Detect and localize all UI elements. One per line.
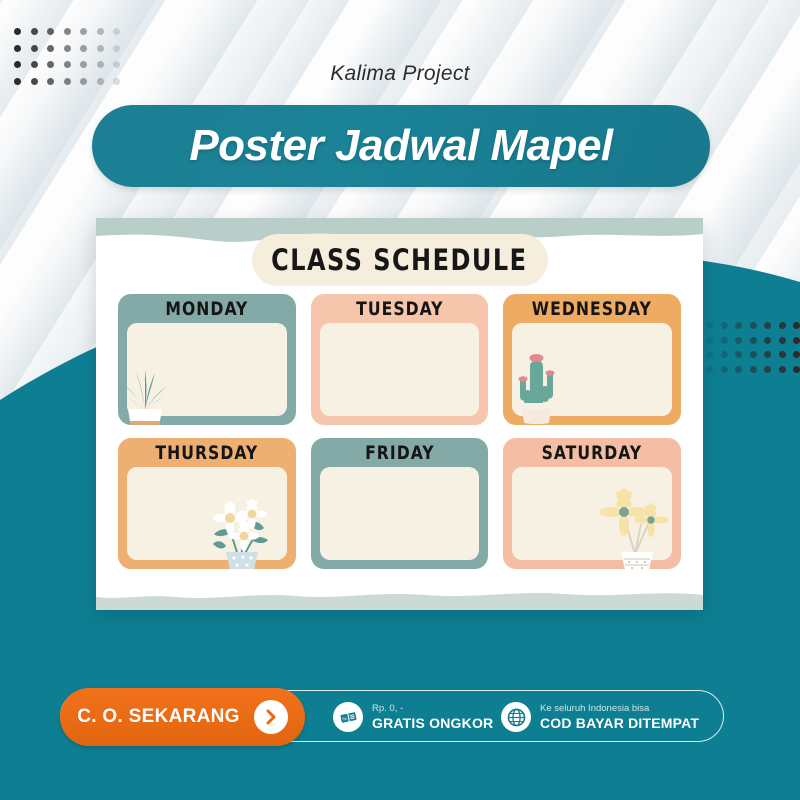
schedule-poster-card: CLASS SCHEDULE MONDAY TUESDAYWEDNESDAY <box>96 218 703 610</box>
day-card-label: MONDAY <box>127 298 286 323</box>
badge-free-shipping-text: Rp. 0, - GRATIS ONGKOR <box>372 703 493 731</box>
coupon-icon: % <box>333 702 363 732</box>
class-schedule-heading-pill: CLASS SCHEDULE <box>252 234 548 286</box>
day-card-grid: MONDAY TUESDAYWEDNESDAY <box>118 294 681 569</box>
day-card-note-area[interactable] <box>320 467 480 560</box>
day-card-wednesday[interactable]: WEDNESDAY <box>503 294 681 425</box>
badge-cod-bottom: COD BAYAR DITEMPAT <box>540 715 699 731</box>
cta-bar: C. O. SEKARANG % <box>60 690 724 742</box>
cactus-plant-illustration <box>507 346 565 425</box>
badge-cod: Ke seluruh Indonesia bisa COD BAYAR DITE… <box>501 697 699 737</box>
checkout-button[interactable]: C. O. SEKARANG <box>60 688 305 746</box>
day-card-tuesday[interactable]: TUESDAY <box>311 294 489 425</box>
globe-icon <box>501 702 531 732</box>
day-card-note-area[interactable] <box>320 323 480 416</box>
day-card-label: SATURDAY <box>512 442 671 467</box>
badge-free-shipping: % Rp. 0, - GRATIS ONGKOR <box>333 697 493 737</box>
day-card-friday[interactable]: FRIDAY <box>311 438 489 569</box>
badge-cod-top: Ke seluruh Indonesia bisa <box>540 703 699 715</box>
badge-free-shipping-top: Rp. 0, - <box>372 703 493 715</box>
torn-paper-edge-bottom <box>96 586 703 610</box>
day-card-saturday[interactable]: SATURDAY <box>503 438 681 569</box>
day-card-label: THURSDAY <box>127 442 286 467</box>
day-card-label: TUESDAY <box>320 298 479 323</box>
poster-title-banner: Poster Jadwal Mapel <box>92 105 710 187</box>
badge-cod-text: Ke seluruh Indonesia bisa COD BAYAR DITE… <box>540 703 699 731</box>
badge-free-shipping-bottom: GRATIS ONGKOR <box>372 715 493 731</box>
day-card-monday[interactable]: MONDAY <box>118 294 296 425</box>
poster-canvas: Kalima Project Poster Jadwal Mapel CLASS… <box>0 0 800 800</box>
brand-name: Kalima Project <box>0 62 800 86</box>
checkout-button-label: C. O. SEKARANG <box>77 706 240 728</box>
day-card-thursday[interactable]: THURSDAY <box>118 438 296 569</box>
poster-title-text: Poster Jadwal Mapel <box>189 121 612 171</box>
day-card-label: FRIDAY <box>320 442 479 467</box>
day-card-label: WEDNESDAY <box>512 298 671 323</box>
chevron-right-icon <box>254 700 288 734</box>
class-schedule-heading-text: CLASS SCHEDULE <box>271 243 527 277</box>
yellow-daisies-illustration <box>591 480 679 569</box>
aloe-plant-illustration <box>118 358 176 425</box>
white-daisies-illustration <box>190 484 290 569</box>
